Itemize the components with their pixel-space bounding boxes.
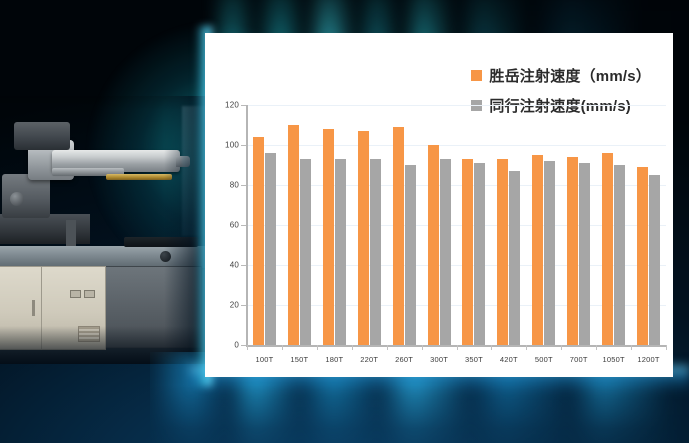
y-axis-tick-mark (241, 145, 246, 146)
bar-peer[interactable] (649, 175, 660, 345)
x-axis-tick-mark (526, 345, 527, 350)
bar-peer[interactable] (265, 153, 276, 345)
bar-peer[interactable] (335, 159, 346, 345)
machine-post (66, 220, 76, 246)
x-axis-tick-label: 350T (465, 355, 483, 364)
plot-area: 020406080100120 100T150T180T220T260T300T… (205, 33, 673, 377)
y-axis-tick-label: 60 (230, 221, 239, 230)
x-axis-tick-label: 500T (535, 355, 553, 364)
x-axis-tick-label: 180T (325, 355, 343, 364)
bar-shengyue[interactable] (323, 129, 334, 345)
machine-brass-shaft (106, 174, 172, 180)
x-axis-tick-label: 150T (290, 355, 308, 364)
x-axis-tick-label: 260T (395, 355, 413, 364)
bar-peer[interactable] (579, 163, 590, 345)
x-axis-tick-mark (247, 345, 248, 350)
bar-group (282, 105, 317, 345)
bar-shengyue[interactable] (532, 155, 543, 345)
x-axis-tick-mark (422, 345, 423, 350)
x-axis-tick-mark (631, 345, 632, 350)
x-axis-tick-mark (596, 345, 597, 350)
x-axis-tick-mark (491, 345, 492, 350)
bar-peer[interactable] (544, 161, 555, 345)
y-axis-tick-mark (241, 345, 246, 346)
cabinet-handle (32, 300, 35, 316)
bar-group (457, 105, 492, 345)
bar-peer[interactable] (509, 171, 520, 345)
y-axis-tick-label: 120 (225, 101, 239, 110)
bar-groups (247, 105, 666, 345)
machine-drive-port (10, 192, 24, 206)
x-axis-tick-label: 1200T (637, 355, 659, 364)
bar-group (352, 105, 387, 345)
y-axis-tick-mark (241, 225, 246, 226)
bar-shengyue[interactable] (567, 157, 578, 345)
bar-group (631, 105, 666, 345)
bar-shengyue[interactable] (393, 127, 404, 345)
bar-peer[interactable] (614, 165, 625, 345)
x-axis-tick-mark (561, 345, 562, 350)
y-axis-tick-label: 0 (234, 341, 239, 350)
bar-peer[interactable] (440, 159, 451, 345)
x-axis-tick-label: 1050T (602, 355, 624, 364)
bar-shengyue[interactable] (637, 167, 648, 345)
y-axis-tick-mark (241, 185, 246, 186)
y-axis-tick-mark (241, 105, 246, 106)
x-axis-tick-label: 100T (256, 355, 274, 364)
bar-group (491, 105, 526, 345)
bar-shengyue[interactable] (288, 125, 299, 345)
y-axis-tick-label: 80 (230, 181, 239, 190)
x-axis-tick-mark (317, 345, 318, 350)
x-axis-ticks (247, 345, 666, 353)
bar-shengyue[interactable] (602, 153, 613, 345)
bar-peer[interactable] (300, 159, 311, 345)
bar-shengyue[interactable] (253, 137, 264, 345)
x-axis-tick-mark (387, 345, 388, 350)
bar-group (247, 105, 282, 345)
y-axis-labels: 020406080100120 (213, 102, 239, 340)
x-axis-tick-mark (666, 345, 667, 350)
x-axis-tick-mark (457, 345, 458, 350)
x-axis-tick-mark (282, 345, 283, 350)
bar-shengyue[interactable] (428, 145, 439, 345)
y-axis-tick-label: 40 (230, 261, 239, 270)
bar-group (526, 105, 561, 345)
cabinet-button-right (84, 290, 95, 298)
y-axis-tick-mark (241, 305, 246, 306)
x-axis-tick-mark (352, 345, 353, 350)
x-axis-tick-label: 420T (500, 355, 518, 364)
x-axis-tick-label: 700T (570, 355, 588, 364)
bar-group (317, 105, 352, 345)
chart-panel: 胜岳注射速度（mm/s） 同行注射速度(mm/s) 02040608010012… (205, 33, 673, 377)
machine-lower-rail (0, 214, 90, 244)
bar-group (387, 105, 422, 345)
bar-peer[interactable] (405, 165, 416, 345)
y-axis-tick-mark (241, 265, 246, 266)
cabinet-button-left (70, 290, 81, 298)
bar-shengyue[interactable] (358, 131, 369, 345)
bar-group (596, 105, 631, 345)
bar-peer[interactable] (370, 159, 381, 345)
y-axis-tick-label: 20 (230, 301, 239, 310)
bar-group (422, 105, 457, 345)
bar-peer[interactable] (474, 163, 485, 345)
y-axis-tick-label: 100 (225, 141, 239, 150)
x-axis-tick-label: 220T (360, 355, 378, 364)
machine-drive-block (2, 174, 50, 218)
x-axis-labels: 100T150T180T220T260T300T350T420T500T700T… (247, 355, 666, 371)
bar-shengyue[interactable] (497, 159, 508, 345)
x-axis-tick-label: 300T (430, 355, 448, 364)
bar-group (561, 105, 596, 345)
bar-shengyue[interactable] (462, 159, 473, 345)
machine-top-head (14, 122, 70, 150)
